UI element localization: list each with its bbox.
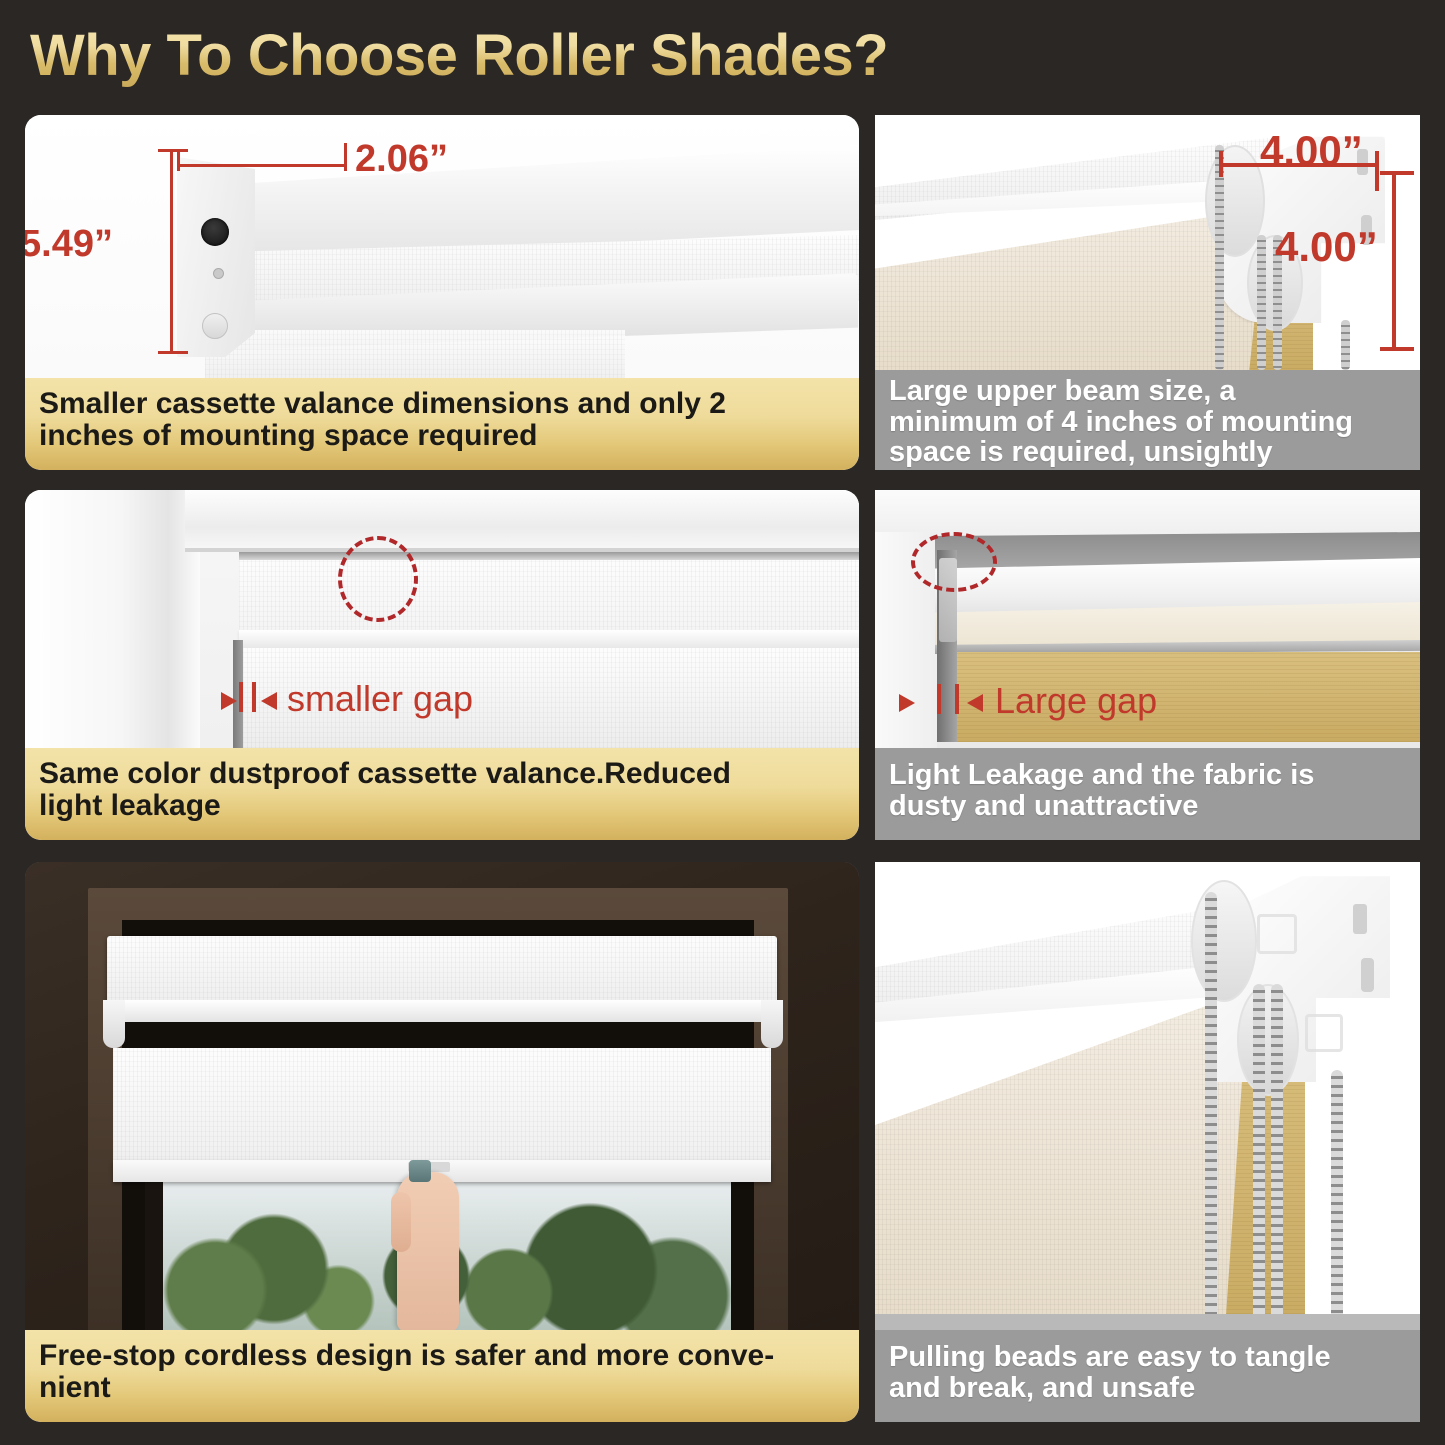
width-dim-tick-right [344, 143, 347, 171]
end-cap-knob [202, 313, 228, 339]
height-dimension-label: 5.49” [25, 223, 113, 266]
beam-width-label: 4.00” [1260, 127, 1363, 175]
caption-line: Light Leakage and the fabric is [889, 760, 1314, 791]
caption-line: Smaller cassette valance dimensions and … [39, 388, 726, 420]
caption-line: space is required, unsightly [889, 437, 1353, 468]
highlight-ellipse [911, 532, 997, 592]
caption-line: Pulling beads are easy to tangle [889, 1342, 1331, 1373]
gap-arrow-right [261, 692, 277, 710]
panel-5-caption: Free-stop cordless design is safer and m… [25, 1330, 859, 1422]
gap-mark-left [937, 684, 941, 714]
valance-end-right [761, 1000, 783, 1048]
beam-height-tick-bottom [1380, 347, 1414, 351]
valance-lip [107, 1000, 777, 1022]
bead-chain-far-right [1341, 320, 1350, 370]
highlight-ellipse [338, 536, 418, 622]
end-cap-slot [201, 218, 229, 246]
beam-height-dim-line [1392, 171, 1396, 351]
bead-chain-1 [1205, 892, 1217, 1330]
caption-line: Large upper beam size, a [889, 376, 1353, 407]
bracket-icon-lower [1305, 1014, 1343, 1052]
ceiling-band [875, 490, 1420, 532]
panel-dustproof-valance: smaller gap Same color dustproof cassett… [25, 490, 859, 840]
panel-6-photo [875, 862, 1420, 1330]
bracket-side-disc [1205, 145, 1265, 257]
caption-line: minimum of 4 inches of mounting [889, 407, 1353, 438]
gap-mark-left [239, 682, 243, 712]
bracket-notch-upper [1353, 904, 1367, 934]
valance-end-left [103, 1000, 125, 1048]
beam-width-tick-left [1219, 151, 1223, 177]
caption-line: light leakage [39, 790, 731, 822]
gap-arrow-left [899, 694, 915, 712]
rail-grip-knob [409, 1160, 431, 1182]
panel-2-photo: 4.00” 4.00” [875, 115, 1420, 370]
gap-mark-right [252, 682, 256, 712]
caption-line: Same color dustproof cassette valance.Re… [39, 758, 731, 790]
height-dim-line [170, 149, 173, 354]
height-dim-tick-top [158, 149, 188, 152]
bracket-icon-upper [1257, 914, 1297, 954]
smaller-gap-label: smaller gap [287, 678, 473, 720]
panel-1-photo: 2.06” 5.49” [25, 115, 859, 380]
beam-height-tick-top [1380, 171, 1414, 175]
panel-4-photo: Large gap [875, 490, 1420, 748]
panel-4-caption: Light Leakage and the fabric is dusty an… [875, 748, 1420, 840]
end-cap-screw-upper [213, 268, 224, 279]
width-dimension-label: 2.06” [355, 138, 448, 181]
valance-lower-lip [239, 630, 859, 648]
page-title: Why To Choose Roller Shades? [30, 22, 888, 89]
panel-cordless-design: Free-stop cordless design is safer and m… [25, 862, 859, 1422]
window-frame-left [25, 490, 200, 748]
shade-fabric [875, 992, 1245, 1330]
bracket-upper-disc [1191, 880, 1257, 1002]
panel-6-caption: Pulling beads are easy to tangle and bre… [875, 1330, 1420, 1422]
bead-chain-3 [1271, 984, 1283, 1330]
panel-1-caption: Smaller cassette valance dimensions and … [25, 378, 859, 470]
panel-2-caption: Large upper beam size, a minimum of 4 in… [875, 370, 1420, 470]
hand-thumb [391, 1192, 411, 1252]
panel-smaller-cassette: 2.06” 5.49” Smaller cassette valance dim… [25, 115, 859, 470]
panel-3-photo: smaller gap [25, 490, 859, 748]
window-frame-top [185, 490, 859, 552]
bead-chain-mid [1257, 235, 1266, 370]
large-gap-label: Large gap [995, 680, 1157, 722]
panel-large-beam: 4.00” 4.00” Large upper beam size, a min… [875, 115, 1420, 470]
panel-5-photo [25, 862, 859, 1332]
bracket-lower-disc [1237, 984, 1299, 1096]
infographic-page: Why To Choose Roller Shades? 2.06” 5.49” [0, 0, 1445, 1445]
beam-height-label: 4.00” [1275, 223, 1378, 271]
panel-pulling-beads: Pulling beads are easy to tangle and bre… [875, 862, 1420, 1422]
height-dim-tick-bottom [158, 351, 188, 354]
gap-arrow-left [221, 692, 237, 710]
gap-arrow-right [967, 694, 983, 712]
shade-valance [107, 936, 777, 1008]
width-dim-tick-left [177, 149, 180, 171]
caption-line: inches of mounting space required [39, 420, 726, 452]
bracket-notch-lower [1361, 958, 1374, 992]
caption-line: nient [39, 1372, 774, 1404]
caption-line: dusty and unattractive [889, 791, 1314, 822]
floor-strip [875, 1314, 1420, 1330]
caption-line: Free-stop cordless design is safer and m… [39, 1340, 774, 1372]
width-dim-line [177, 164, 347, 167]
window-mullion [145, 1162, 163, 1332]
bead-chain-4 [1331, 1070, 1343, 1330]
gap-mark-right [955, 684, 959, 714]
panel-light-leakage: Large gap Light Leakage and the fabric i… [875, 490, 1420, 840]
bead-chain-left [1215, 145, 1224, 370]
panel-3-caption: Same color dustproof cassette valance.Re… [25, 748, 859, 840]
beam-width-tick-right [1375, 151, 1379, 191]
hanging-fabric [205, 330, 625, 380]
bead-chain-2 [1253, 984, 1265, 1330]
caption-line: and break, and unsafe [889, 1373, 1331, 1404]
valance-shadow-line [239, 552, 859, 560]
